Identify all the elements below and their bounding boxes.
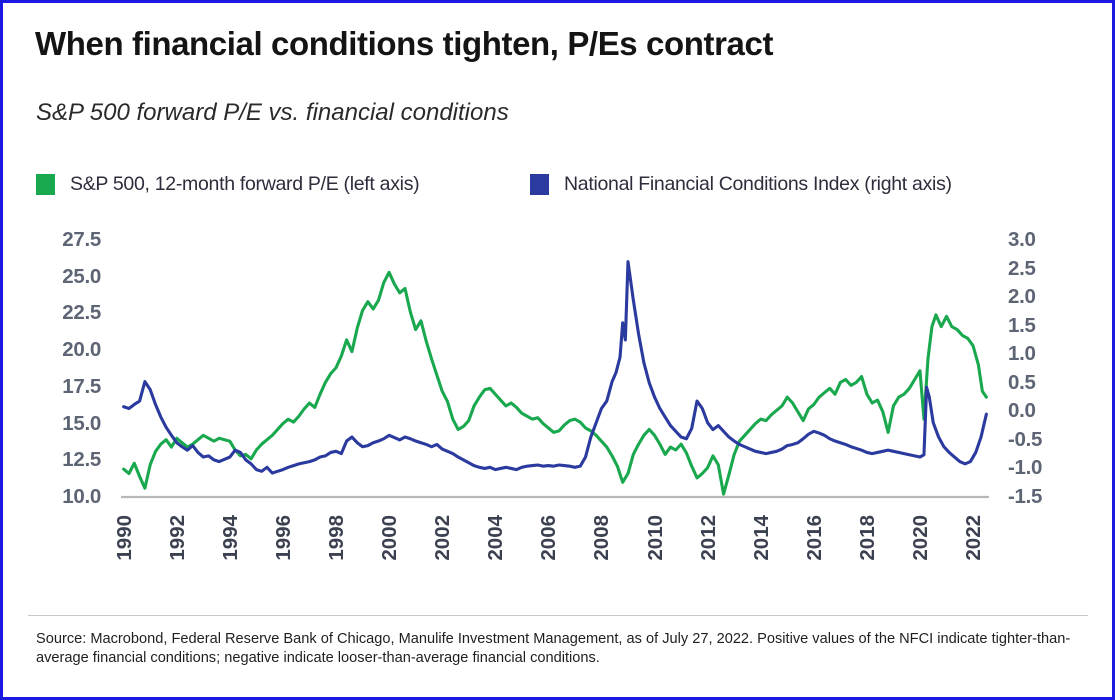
x-tick-2014: 2014 [750, 515, 774, 561]
y-tick-left-1: 25.0 [62, 265, 101, 289]
y-axis-left: 27.525.022.520.017.515.012.510.0 [21, 225, 101, 515]
y-tick-right-0: 3.0 [1008, 228, 1036, 252]
y-tick-left-2: 22.5 [62, 301, 101, 325]
legend-swatch-green [36, 174, 55, 195]
x-tick-2012: 2012 [697, 515, 721, 561]
x-axis: 1990199219941996199820002002200420062008… [121, 515, 989, 607]
y-tick-left-0: 27.5 [62, 228, 101, 252]
plot-region: 27.525.022.520.017.515.012.510.0 3.02.52… [3, 225, 1112, 515]
x-tick-1994: 1994 [219, 515, 243, 561]
series-svg [121, 225, 989, 515]
x-tick-2002: 2002 [431, 515, 455, 561]
y-tick-right-4: 1.0 [1008, 342, 1036, 366]
legend-swatch-blue [530, 174, 549, 195]
x-tick-2018: 2018 [856, 515, 880, 561]
x-tick-2010: 2010 [644, 515, 668, 561]
x-tick-2020: 2020 [909, 515, 933, 561]
y-tick-right-8: -1.0 [1008, 456, 1042, 480]
y-axis-right: 3.02.52.01.51.00.50.0-0.5-1.0-1.5 [1008, 225, 1088, 515]
y-tick-right-5: 0.5 [1008, 371, 1036, 395]
y-tick-left-3: 20.0 [62, 338, 101, 362]
plot-canvas [121, 225, 989, 515]
chart-subtitle: S&P 500 forward P/E vs. financial condit… [36, 99, 509, 127]
x-tick-1992: 1992 [166, 515, 190, 561]
y-tick-right-7: -0.5 [1008, 428, 1042, 452]
x-tick-2008: 2008 [590, 515, 614, 561]
series-line-sp500-forward-pe [124, 272, 987, 494]
footnote-divider [28, 615, 1088, 616]
x-tick-2006: 2006 [537, 515, 561, 561]
legend-label-nfci: National Financial Conditions Index (rig… [564, 173, 952, 196]
legend-item-sp500-forward-pe[interactable]: S&P 500, 12-month forward P/E (left axis… [36, 171, 419, 197]
y-tick-left-6: 12.5 [62, 448, 101, 472]
x-tick-2000: 2000 [378, 515, 402, 561]
chart-legend: S&P 500, 12-month forward P/E (left axis… [36, 171, 1076, 201]
y-tick-right-9: -1.5 [1008, 485, 1042, 509]
y-tick-left-7: 10.0 [62, 485, 101, 509]
y-tick-right-1: 2.5 [1008, 257, 1036, 281]
y-tick-right-3: 1.5 [1008, 314, 1036, 338]
y-tick-right-2: 2.0 [1008, 285, 1036, 309]
legend-label-sp500-forward-pe: S&P 500, 12-month forward P/E (left axis… [70, 173, 419, 196]
chart-card: When financial conditions tighten, P/Es … [0, 0, 1115, 700]
y-tick-right-6: 0.0 [1008, 399, 1036, 423]
x-tick-1996: 1996 [272, 515, 296, 561]
x-tick-2016: 2016 [803, 515, 827, 561]
y-tick-left-5: 15.0 [62, 412, 101, 436]
series-line-nfci [124, 262, 987, 473]
x-tick-2004: 2004 [484, 515, 508, 561]
x-tick-2022: 2022 [962, 515, 986, 561]
x-tick-1998: 1998 [325, 515, 349, 561]
y-tick-left-4: 17.5 [62, 375, 101, 399]
x-tick-1990: 1990 [113, 515, 137, 561]
chart-footnote: Source: Macrobond, Federal Reserve Bank … [36, 630, 1081, 669]
legend-item-nfci[interactable]: National Financial Conditions Index (rig… [530, 171, 952, 197]
chart-title: When financial conditions tighten, P/Es … [35, 25, 773, 63]
